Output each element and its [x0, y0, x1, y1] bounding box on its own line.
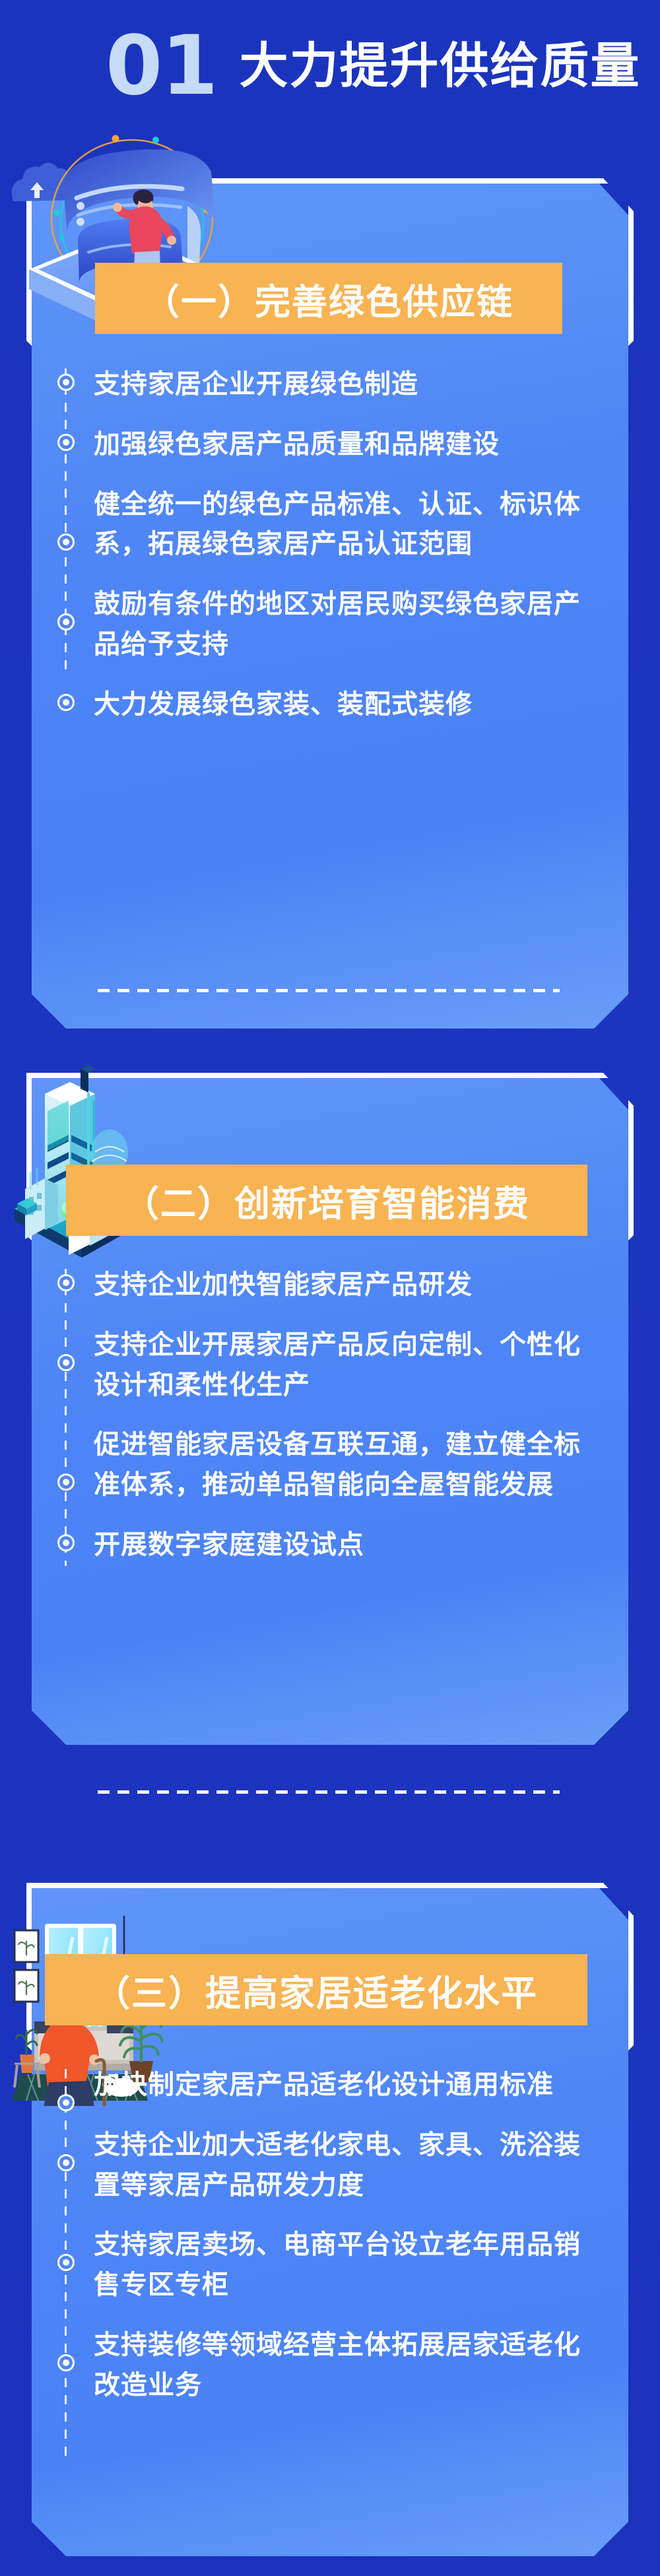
bullet-ring-icon	[57, 2154, 75, 2171]
list-item-text: 健全统一的绿色产品标准、认证、标识体系，拓展绿色家居产品认证范围	[94, 485, 586, 565]
section-3-bullet-list: 加快制定家居产品适老化设计通用标准 支持企业加大适老化家电、家具、洗浴装置等家居…	[65, 2065, 586, 2425]
list-item-text: 支持企业开展家居产品反向定制、个性化设计和柔性化生产	[94, 1325, 586, 1406]
bullet-ring-icon	[57, 374, 75, 391]
list-item-text: 促进智能家居设备互联互通，建立健全标准体系，推动单品智能向全屋智能发展	[94, 1425, 586, 1505]
list-item: 支持装修等领域经营主体拓展居家适老化改造业务	[65, 2325, 586, 2406]
list-item-text: 支持家居卖场、电商平台设立老年用品销售专区专柜	[94, 2225, 586, 2305]
list-item-text: 支持装修等领域经营主体拓展居家适老化改造业务	[94, 2325, 586, 2406]
section-2-divider	[98, 989, 560, 992]
list-item: 支持企业加快智能家居产品研发	[65, 1265, 586, 1305]
list-item: 促进智能家居设备互联互通，建立健全标准体系，推动单品智能向全屋智能发展	[65, 1425, 586, 1505]
section-3-divider	[98, 1790, 560, 1794]
page-title: 大力提升供给质量	[240, 42, 641, 90]
section-3-badge: （三）提高家居适老化水平	[45, 1954, 587, 2025]
list-item: 加强绿色家居产品质量和品牌建设	[65, 424, 586, 465]
list-item-text: 开展数字家庭建设试点	[94, 1525, 586, 1565]
list-item: 鼓励有条件的地区对居民购买绿色家居产品给予支持	[65, 584, 586, 665]
list-item: 大力发展绿色家装、装配式装修	[65, 685, 586, 725]
list-item: 支持企业开展家居产品反向定制、个性化设计和柔性化生产	[65, 1325, 586, 1406]
list-item-text: 鼓励有条件的地区对居民购买绿色家居产品给予支持	[94, 584, 586, 665]
section-1-badge: （一）完善绿色供应链	[95, 263, 562, 334]
list-item: 加快制定家居产品适老化设计通用标准	[65, 2065, 586, 2105]
bullet-ring-icon	[57, 434, 75, 451]
bullet-ring-icon	[57, 1474, 75, 1491]
section-2-bullet-list: 支持企业加快智能家居产品研发 支持企业开展家居产品反向定制、个性化设计和柔性化生…	[65, 1265, 586, 1585]
section-3-badge-label: （三）提高家居适老化水平	[94, 1964, 538, 2016]
page-header: 01 大力提升供给质量	[0, 0, 660, 132]
bullet-ring-icon	[57, 2094, 75, 2111]
list-item: 健全统一的绿色产品标准、认证、标识体系，拓展绿色家居产品认证范围	[65, 485, 586, 565]
bullet-ring-icon	[57, 694, 75, 711]
list-item-text: 支持企业加大适老化家电、家具、洗浴装置等家居产品研发力度	[94, 2125, 586, 2206]
list-item: 开展数字家庭建设试点	[65, 1525, 586, 1565]
bullet-ring-icon	[57, 2354, 75, 2371]
section-2-badge-label: （二）创新培育智能消费	[123, 1174, 530, 1227]
infographic-page: 01 大力提升供给质量	[0, 0, 660, 2576]
bullet-ring-icon	[57, 2254, 75, 2271]
section-1-bullet-list: 支持家居企业开展绿色制造 加强绿色家居产品质量和品牌建设 健全统一的绿色产品标准…	[65, 364, 586, 745]
list-item: 支持企业加大适老化家电、家具、洗浴装置等家居产品研发力度	[65, 2125, 586, 2206]
list-item-text: 加强绿色家居产品质量和品牌建设	[94, 424, 586, 465]
section-2-dashed-guide	[65, 1269, 67, 1566]
smart-city-buildings-illustration	[7, 1053, 205, 1271]
list-item: 支持家居卖场、电商平台设立老年用品销售专区专柜	[65, 2225, 586, 2305]
list-item-text: 大力发展绿色家装、装配式装修	[94, 685, 586, 725]
section-2-badge: （二）创新培育智能消费	[66, 1165, 587, 1236]
bullet-ring-icon	[57, 1534, 75, 1551]
bullet-ring-icon	[57, 533, 75, 551]
list-item: 支持家居企业开展绿色制造	[65, 364, 586, 405]
bullet-ring-icon	[57, 613, 75, 630]
bullet-ring-icon	[57, 1354, 75, 1371]
list-item-text: 加快制定家居产品适老化设计通用标准	[94, 2065, 586, 2105]
section-1-badge-label: （一）完善绿色供应链	[144, 273, 513, 325]
section-number: 01	[106, 25, 217, 107]
list-item-text: 支持企业加快智能家居产品研发	[94, 1265, 586, 1305]
bullet-ring-icon	[57, 1274, 75, 1291]
list-item-text: 支持家居企业开展绿色制造	[94, 364, 586, 405]
